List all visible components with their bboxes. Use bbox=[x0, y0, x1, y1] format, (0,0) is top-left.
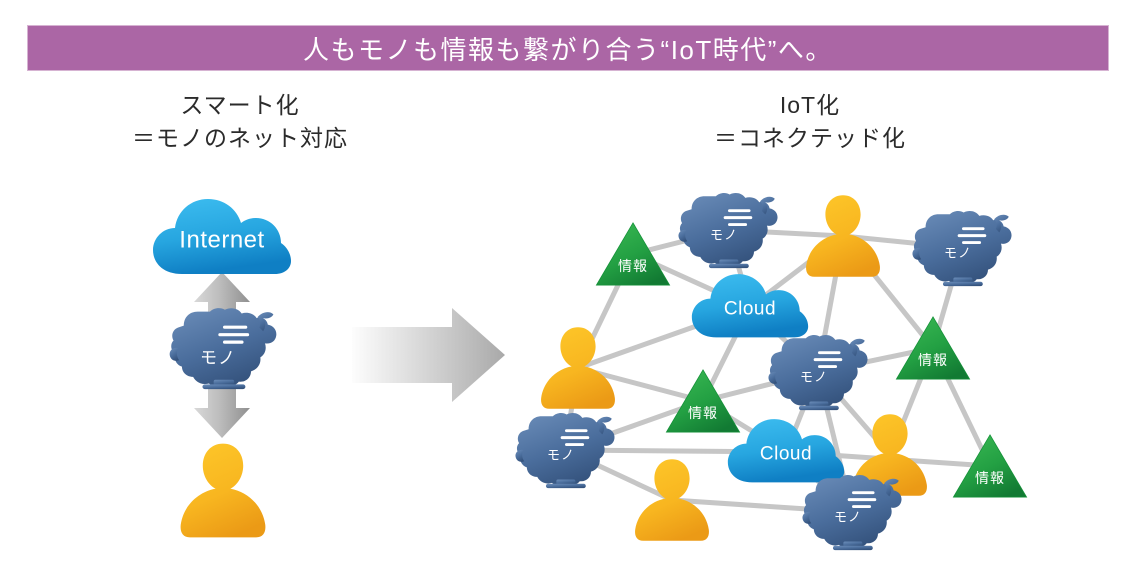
arrow-down-icon bbox=[194, 385, 250, 438]
network-nodes: モノ情報モノCloud情報モノ情報モノCloud情報モノ bbox=[515, 193, 1026, 550]
person-icon bbox=[541, 327, 615, 409]
node-info-r1[interactable]: 情報 bbox=[596, 223, 669, 285]
node-cloud-r2-label: Cloud bbox=[760, 444, 812, 465]
info-icon bbox=[896, 317, 969, 379]
node-info-r3[interactable]: 情報 bbox=[666, 370, 739, 432]
node-internet-label: Internet bbox=[179, 227, 264, 254]
node-info-r2[interactable]: 情報 bbox=[896, 317, 969, 379]
node-thing-r5-label: モノ bbox=[834, 510, 862, 525]
node-thing-r1[interactable]: モノ bbox=[678, 193, 777, 268]
node-person-r2[interactable] bbox=[541, 327, 615, 409]
node-cloud-r1[interactable]: Cloud bbox=[692, 274, 808, 337]
info-icon bbox=[596, 223, 669, 285]
node-thing-r4[interactable]: モノ bbox=[515, 413, 614, 488]
node-thing-r1-label: モノ bbox=[710, 228, 738, 243]
node-thing-r2[interactable]: モノ bbox=[912, 211, 1011, 286]
node-person-left[interactable] bbox=[181, 444, 266, 538]
node-thing-r3-label: モノ bbox=[800, 370, 828, 385]
node-info-r4-label: 情報 bbox=[975, 470, 1005, 486]
node-info-r2-label: 情報 bbox=[918, 352, 948, 368]
info-icon bbox=[666, 370, 739, 432]
node-thing-r4-label: モノ bbox=[547, 448, 575, 463]
node-thing-r3[interactable]: モノ bbox=[768, 335, 867, 410]
node-thing-left[interactable]: モノ bbox=[170, 308, 277, 389]
node-cloud-r1-label: Cloud bbox=[724, 299, 776, 320]
slide-canvas: 人もモノも情報も繋がり合う“IoT時代”へ。 スマート化 ＝モノのネット対応 I… bbox=[0, 0, 1140, 581]
left-panel-nodes: Internet モノ bbox=[153, 199, 291, 537]
diagram-svg: Internet モノ モノ情報モノCloud情報モノ情報モノCloud情報モノ bbox=[0, 0, 1140, 581]
node-info-r3-label: 情報 bbox=[688, 405, 718, 421]
node-thing-r2-label: モノ bbox=[944, 246, 972, 261]
node-thing-r5[interactable]: モノ bbox=[802, 475, 901, 550]
node-internet-cloud[interactable]: Internet bbox=[153, 199, 291, 274]
node-thing-left-label: モノ bbox=[200, 349, 236, 368]
node-info-r1-label: 情報 bbox=[618, 258, 648, 274]
transition-arrow-icon bbox=[352, 308, 505, 402]
